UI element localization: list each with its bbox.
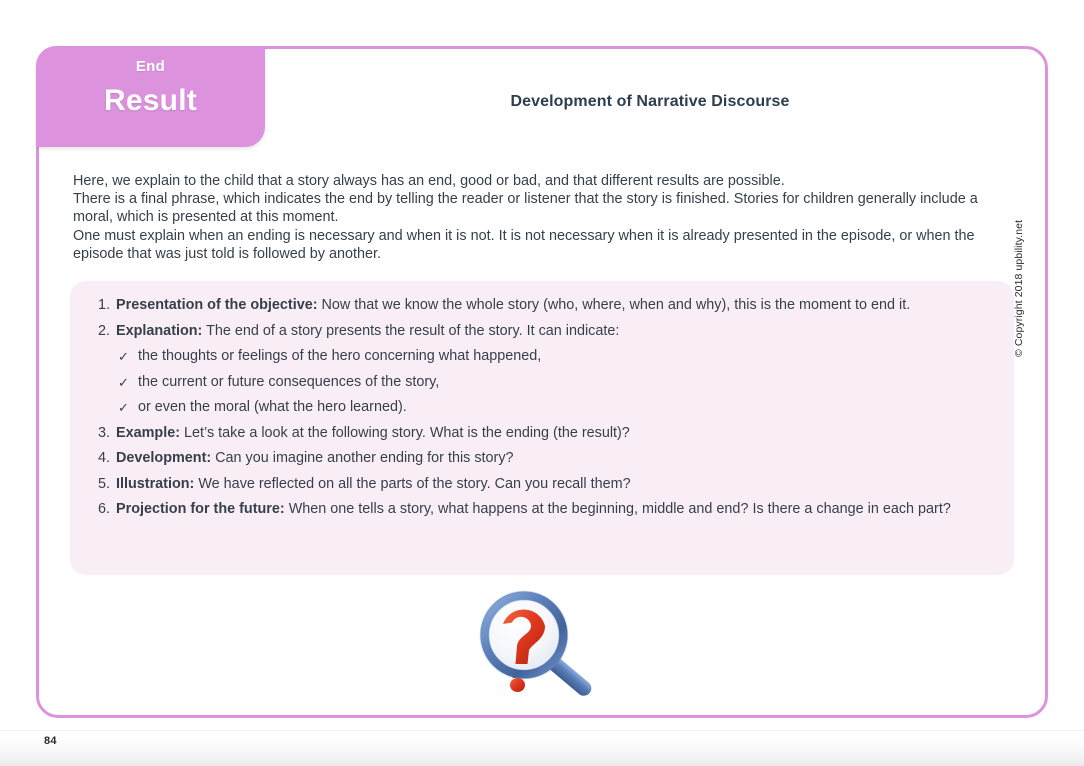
check-text: the current or future consequences of th… — [138, 374, 439, 390]
step-lead-label: Projection for the future: — [116, 501, 285, 517]
section-eyebrow-label: End — [36, 58, 265, 75]
intro-line-3: One must explain when an ending is neces… — [73, 227, 1013, 263]
step-lead-label: Example: — [116, 425, 180, 441]
footer-divider — [0, 730, 1084, 731]
check-sublist: ✓the thoughts or feelings of the hero co… — [70, 348, 1014, 425]
list-item: ✓or even the moral (what the hero learne… — [70, 399, 1014, 425]
page-canvas: End Result Development of Narrative Disc… — [0, 0, 1084, 766]
check-text: or even the moral (what the hero learned… — [138, 399, 407, 415]
section-title-label: Result — [36, 84, 265, 118]
intro-line-1: Here, we explain to the child that a sto… — [73, 172, 1013, 190]
page-number: 84 — [44, 735, 57, 747]
list-item: Illustration: We have reflected on all t… — [70, 476, 1014, 502]
steps-highlight-box: Presentation of the objective: Now that … — [70, 281, 1014, 575]
page-title: Development of Narrative Discourse — [265, 93, 1035, 111]
step-lead-label: Illustration: — [116, 476, 194, 492]
intro-line-2: There is a final phrase, which indicates… — [73, 190, 1013, 226]
step-body-text: The end of a story presents the result o… — [202, 323, 619, 339]
step-body-text: Now that we know the whole story (who, w… — [318, 297, 911, 313]
copyright-notice: © Copyright 2018 upbility.net — [1013, 157, 1025, 357]
section-header-tab: End Result — [36, 46, 265, 147]
step-body-text: When one tells a story, what happens at … — [285, 501, 951, 517]
step-lead-label: Explanation: — [116, 323, 202, 339]
step-lead-label: Presentation of the objective: — [116, 297, 318, 313]
footer-strip — [0, 726, 1084, 766]
list-item: ✓the thoughts or feelings of the hero co… — [70, 348, 1014, 374]
checkmark-icon: ✓ — [118, 399, 129, 416]
step-body-text: Can you imagine another ending for this … — [211, 450, 513, 466]
intro-paragraph-block: Here, we explain to the child that a sto… — [73, 172, 1013, 263]
list-item: Development: Can you imagine another end… — [70, 450, 1014, 476]
list-item: ✓the current or future consequences of t… — [70, 374, 1014, 400]
magnifying-glass-question-mark-icon — [472, 588, 612, 700]
list-item: Explanation: The end of a story presents… — [70, 323, 1014, 349]
step-lead-label: Development: — [116, 450, 211, 466]
step-body-text: We have reflected on all the parts of th… — [194, 476, 630, 492]
checkmark-icon: ✓ — [118, 374, 129, 391]
list-item: Projection for the future: When one tell… — [70, 501, 1014, 527]
check-text: the thoughts or feelings of the hero con… — [138, 348, 541, 364]
list-item: Example: Let’s take a look at the follow… — [70, 425, 1014, 451]
steps-list: Presentation of the objective: Now that … — [70, 281, 1014, 527]
checkmark-icon: ✓ — [118, 348, 129, 365]
step-body-text: Let’s take a look at the following story… — [180, 425, 630, 441]
list-item: Presentation of the objective: Now that … — [70, 297, 1014, 323]
